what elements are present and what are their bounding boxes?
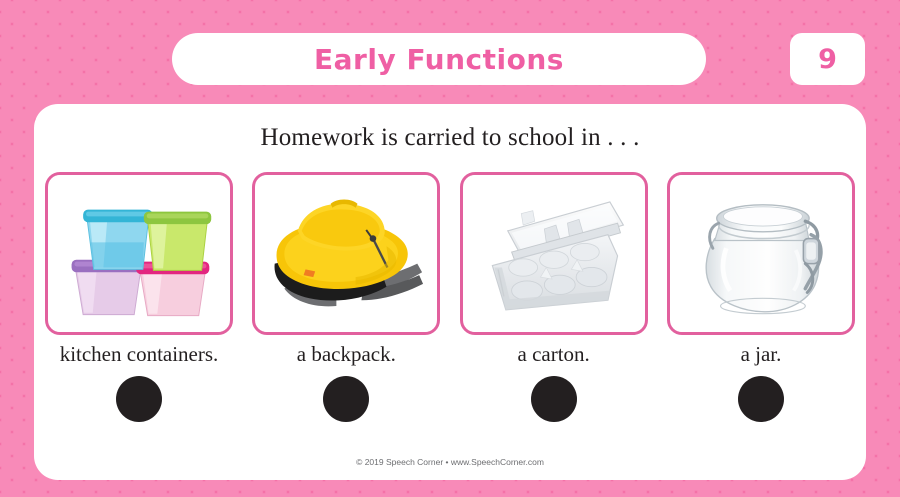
photo-frame-carton[interactable] [460,172,648,335]
backpack-photo [255,175,437,332]
photo-frame-backpack[interactable] [252,172,440,335]
choices-row: kitchen containers. [44,172,856,422]
choice-backpack[interactable]: a backpack. [251,172,441,422]
glass-jar-photo [670,175,852,332]
answer-dot-kitchen-containers[interactable] [116,376,162,422]
choice-label: a backpack. [297,342,396,367]
answer-dot-jar[interactable] [738,376,784,422]
choice-carton[interactable]: a carton. [459,172,649,422]
choice-jar[interactable]: a jar. [666,172,856,422]
answer-dot-backpack[interactable] [323,376,369,422]
choice-label: kitchen containers. [60,342,219,367]
egg-carton-photo [463,175,645,332]
worksheet-page: Early Functions 9 Homework is carried to… [0,0,900,497]
copyright-footer: © 2019 Speech Corner • www.SpeechCorner.… [34,457,866,467]
choice-label: a carton. [518,342,590,367]
photo-frame-kitchen-containers[interactable] [45,172,233,335]
page-number: 9 [818,44,837,75]
page-title: Early Functions [314,43,564,76]
photo-frame-jar[interactable] [667,172,855,335]
choice-kitchen-containers[interactable]: kitchen containers. [44,172,234,422]
answer-dot-carton[interactable] [531,376,577,422]
prompt-text: Homework is carried to school in . . . [34,124,866,152]
kitchen-containers-photo [48,175,230,332]
content-card: Homework is carried to school in . . . [34,104,866,480]
page-number-badge: 9 [790,33,865,85]
choice-label: a jar. [741,342,782,367]
title-banner: Early Functions [172,33,706,85]
